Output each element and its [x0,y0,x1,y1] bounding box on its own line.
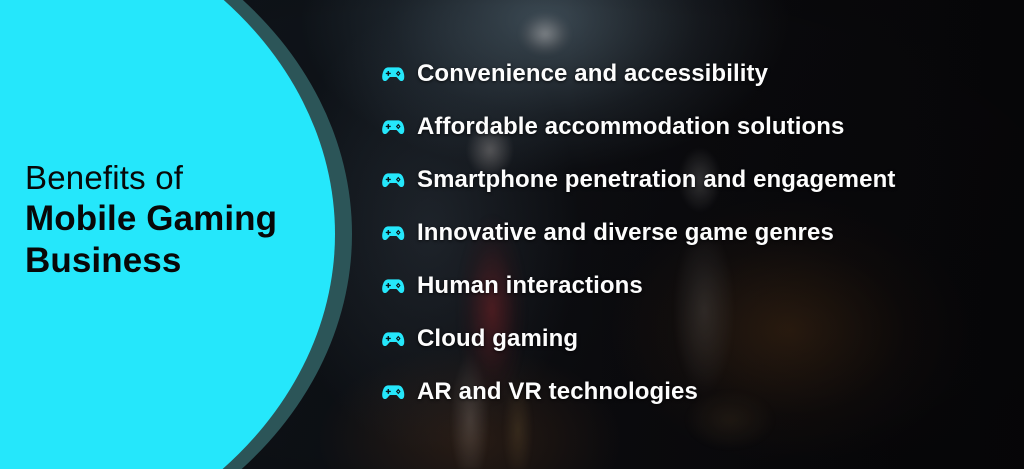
list-item: Innovative and diverse game genres [381,206,1021,259]
page-title-line-2: Mobile Gaming [25,201,335,236]
list-item: Affordable accommodation solutions [381,100,1021,153]
list-item-label: Human interactions [417,272,643,300]
page-title-line-3: Business [25,243,335,278]
benefits-banner: Benefits of Mobile Gaming Business Conve… [0,0,1024,469]
gamepad-icon [381,65,405,83]
gamepad-icon [381,118,405,136]
list-item-label: Affordable accommodation solutions [417,113,844,141]
gamepad-icon [381,224,405,242]
list-item: Human interactions [381,259,1021,312]
list-item-label: Innovative and diverse game genres [417,219,834,247]
list-item-label: AR and VR technologies [417,378,698,406]
list-item-label: Cloud gaming [417,325,578,353]
list-item: Convenience and accessibility [381,47,1021,100]
page-title: Benefits of Mobile Gaming Business [25,161,335,278]
gamepad-icon [381,277,405,295]
list-item-label: Convenience and accessibility [417,60,768,88]
gamepad-icon [381,383,405,401]
list-item-label: Smartphone penetration and engagement [417,166,895,194]
list-item: Cloud gaming [381,312,1021,365]
page-title-line-1: Benefits of [25,161,335,194]
benefits-list: Convenience and accessibility Affordable… [381,47,1021,418]
list-item: AR and VR technologies [381,365,1021,418]
gamepad-icon [381,330,405,348]
gamepad-icon [381,171,405,189]
list-item: Smartphone penetration and engagement [381,153,1021,206]
